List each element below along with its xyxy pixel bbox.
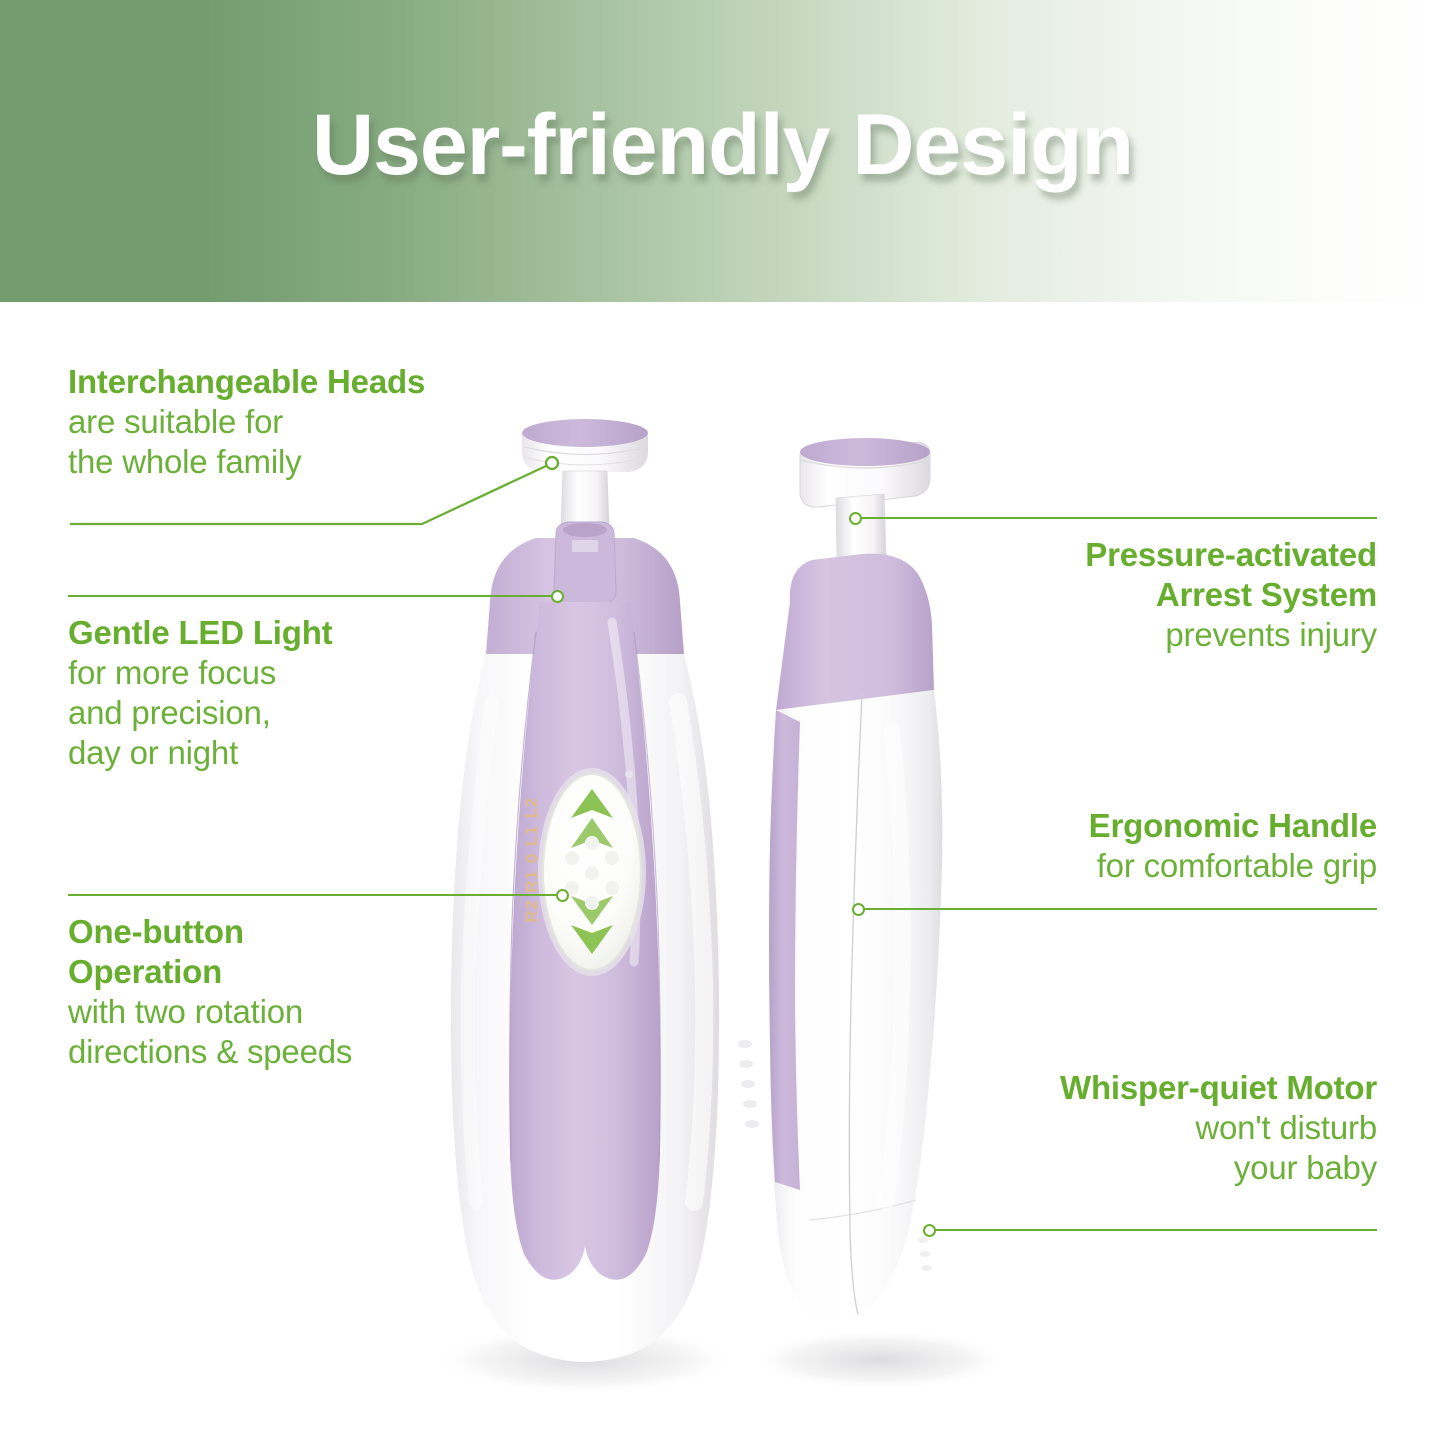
callout-pressure-activated-arrest-system: Pressure-activated Arrest System prevent… <box>917 535 1377 655</box>
callout-rule-ergonomic-handle <box>864 908 1377 910</box>
speed-label: 0 <box>522 853 542 863</box>
led-indicator <box>625 770 633 778</box>
left-device-shadow <box>435 1326 735 1394</box>
infographic-page: User-friendly Design <box>0 0 1445 1445</box>
speed-setting-labels: R2 R1 0 L1 L2 <box>482 840 582 880</box>
callout-body-line: with two rotation <box>68 992 498 1032</box>
callout-line-interchangeable-heads <box>0 0 620 560</box>
callout-title: Operation <box>68 952 498 992</box>
callout-body-line: won't disturb <box>917 1108 1377 1148</box>
callout-rule-gentle-led-light <box>68 595 556 597</box>
callout-body-line: directions & speeds <box>68 1032 498 1072</box>
callout-body-line: day or night <box>68 733 488 773</box>
callout-title: Gentle LED Light <box>68 613 488 653</box>
callout-marker-gentle-led-light <box>551 590 564 603</box>
callout-marker-one-button-operation <box>556 889 569 902</box>
chevron-down-icon <box>571 925 613 954</box>
chevron-down-icon <box>571 896 613 925</box>
callout-rule-one-button-operation <box>68 894 561 896</box>
callout-title: One-button <box>68 912 498 952</box>
right-device-shadow <box>750 1330 1010 1390</box>
speed-label: R2 <box>522 900 542 923</box>
callout-title: Whisper-quiet Motor <box>917 1068 1377 1108</box>
callout-body-line: prevents injury <box>917 615 1377 655</box>
callout-body-line: and precision, <box>68 693 488 733</box>
callout-body-line: your baby <box>917 1148 1377 1188</box>
callout-gentle-led-light: Gentle LED Light for more focus and prec… <box>68 613 488 773</box>
device-front-panel <box>510 602 661 1280</box>
speed-label: R1 <box>522 870 542 893</box>
device-front-view <box>451 419 719 1362</box>
callout-rule-whisper-quiet-motor <box>935 1229 1377 1231</box>
callout-body-line: for more focus <box>68 653 488 693</box>
callout-one-button-operation: One-button Operation with two rotation d… <box>68 912 498 1072</box>
device-side-view <box>738 438 942 1322</box>
callout-ergonomic-handle: Ergonomic Handle for comfortable grip <box>917 806 1377 886</box>
callout-title: Pressure-activated <box>917 535 1377 575</box>
chevron-up-icon <box>571 789 613 818</box>
callout-title: Arrest System <box>917 575 1377 615</box>
callout-title: Ergonomic Handle <box>917 806 1377 846</box>
callout-body-line: for comfortable grip <box>917 846 1377 886</box>
speed-label: L1 <box>522 825 542 846</box>
speed-label: L2 <box>522 797 542 818</box>
callout-rule-pressure-activated <box>861 517 1377 519</box>
callout-whisper-quiet-motor: Whisper-quiet Motor won't disturb your b… <box>917 1068 1377 1188</box>
